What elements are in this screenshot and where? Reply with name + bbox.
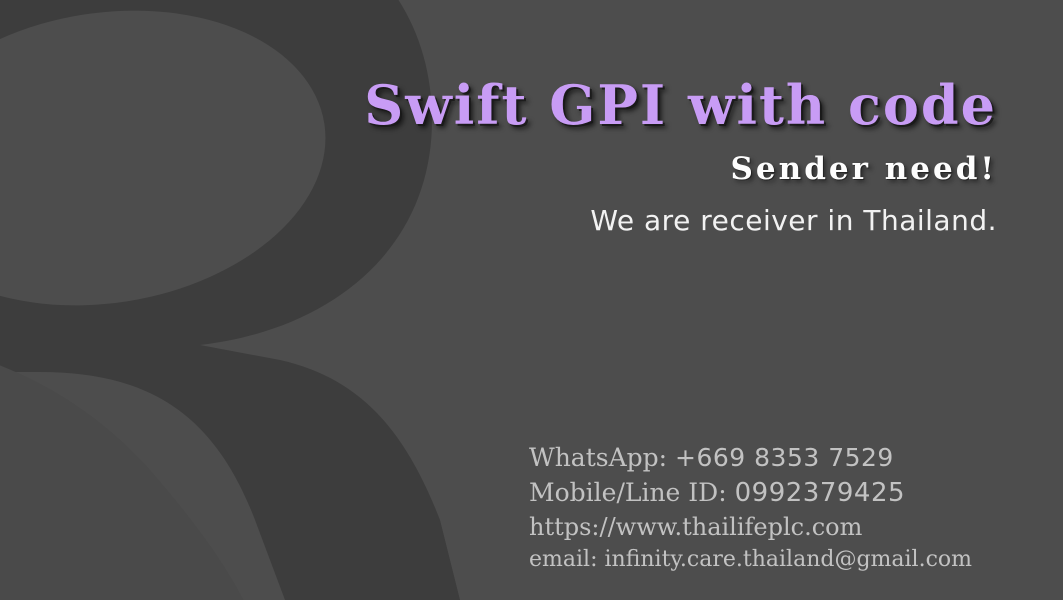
contact-block: WhatsApp: +669 8353 7529 Mobile/Line ID:… (529, 440, 972, 576)
mobile-line-number[interactable]: 0992379425 (735, 478, 905, 508)
whatsapp-number[interactable]: +669 8353 7529 (675, 443, 894, 472)
headline-block: Swift GPI with code Sender need! We are … (0, 78, 997, 235)
promo-banner: Swift GPI with code Sender need! We are … (0, 0, 1063, 600)
contact-row-email: email: infinity.care.thailand@gmail.com (529, 544, 972, 576)
website-url[interactable]: https://www.thailifeplc.com (529, 513, 862, 541)
contact-row-whatsapp: WhatsApp: +669 8353 7529 (529, 440, 972, 475)
contact-row-mobile: Mobile/Line ID: 0992379425 (529, 475, 972, 511)
email-label: email: (529, 547, 597, 572)
whatsapp-label: WhatsApp: (529, 443, 667, 472)
tagline: We are receiver in Thailand. (0, 207, 997, 235)
page-title: Swift GPI with code (0, 78, 997, 132)
contact-row-website: https://www.thailifeplc.com (529, 511, 972, 544)
email-address[interactable]: infinity.care.thailand@gmail.com (604, 547, 972, 572)
subtitle: Sender need! (0, 154, 997, 185)
mobile-line-label: Mobile/Line ID: (529, 478, 727, 507)
